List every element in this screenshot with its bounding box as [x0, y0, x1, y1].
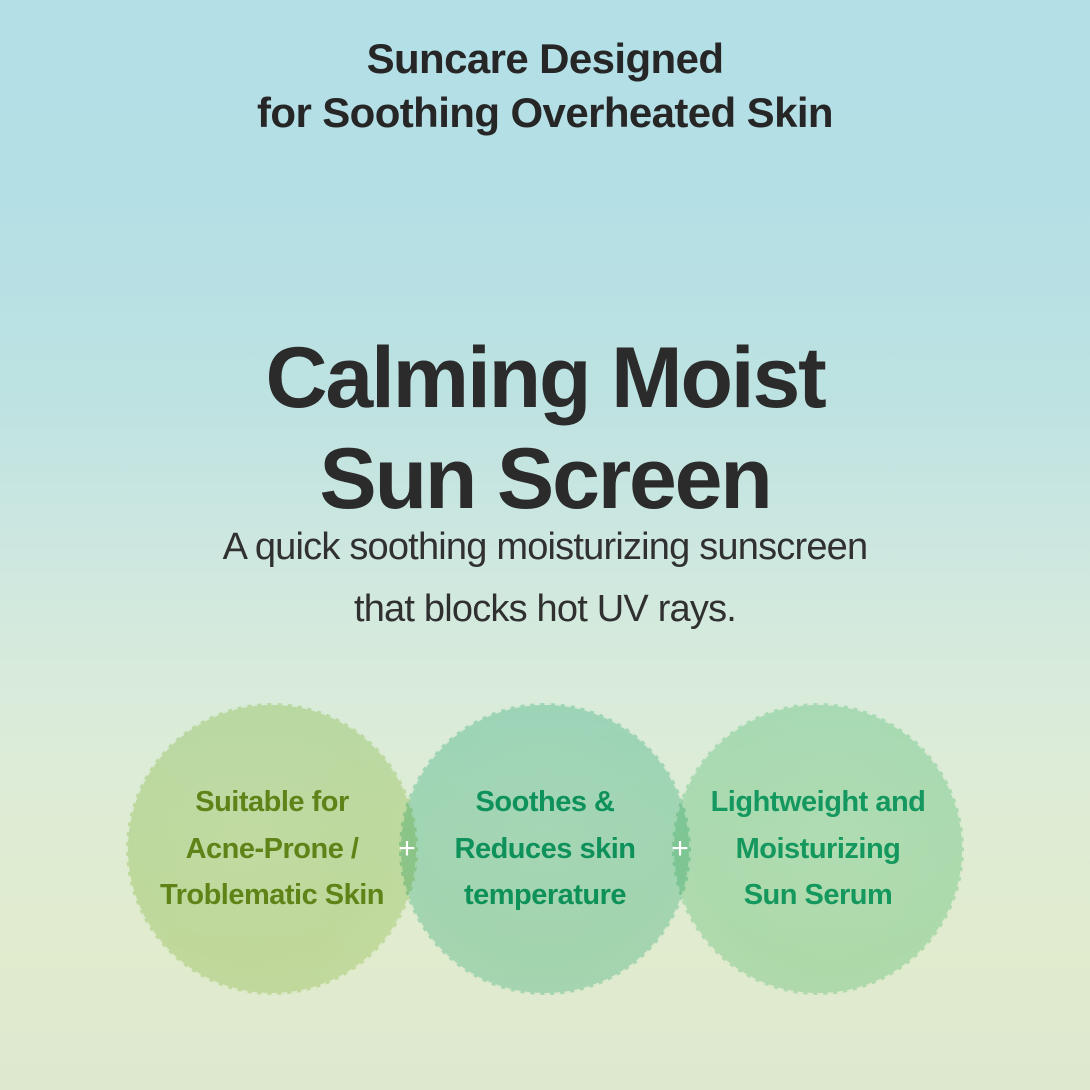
benefit-circle-soothes-temperature: Soothes & Reduces skin temperature: [399, 703, 691, 995]
benefit-1-line-2: Acne-Prone /: [137, 826, 407, 873]
benefit-1-line-3: Troblematic Skin: [137, 872, 407, 919]
product-title-line-2: Sun Screen: [0, 429, 1090, 530]
page-title: Calming Moist Sun Screen: [0, 328, 1090, 531]
benefit-2-line-3: temperature: [410, 872, 680, 919]
benefit-2-line-2: Reduces skin: [410, 826, 680, 873]
benefit-3-line-2: Moisturizing: [683, 826, 953, 873]
product-detail-page: Suncare Designed for Soothing Overheated…: [0, 0, 1090, 1090]
benefit-1-line-1: Suitable for: [137, 779, 407, 826]
subtitle-line-2: that blocks hot UV rays.: [0, 579, 1090, 641]
benefit-2-line-1: Soothes &: [410, 779, 680, 826]
benefit-text-acne-prone: Suitable for Acne-Prone / Troblematic Sk…: [137, 779, 407, 920]
page-eyebrow-heading: Suncare Designed for Soothing Overheated…: [0, 32, 1090, 140]
plus-icon: +: [392, 834, 422, 864]
eyebrow-line-2: for Soothing Overheated Skin: [0, 86, 1090, 140]
benefit-text-soothes-temperature: Soothes & Reduces skin temperature: [410, 779, 680, 920]
benefit-3-line-1: Lightweight and: [683, 779, 953, 826]
product-subtitle: A quick soothing moisturizing sunscreen …: [0, 517, 1090, 640]
plus-icon: +: [665, 834, 695, 864]
subtitle-line-1: A quick soothing moisturizing sunscreen: [0, 517, 1090, 579]
benefits-venn-diagram: Suitable for Acne-Prone / Troblematic Sk…: [0, 703, 1090, 1003]
benefit-circle-acne-prone: Suitable for Acne-Prone / Troblematic Sk…: [126, 703, 418, 995]
eyebrow-line-1: Suncare Designed: [0, 32, 1090, 86]
benefit-text-lightweight-serum: Lightweight and Moisturizing Sun Serum: [683, 779, 953, 920]
benefit-3-line-3: Sun Serum: [683, 872, 953, 919]
benefit-circle-lightweight-serum: Lightweight and Moisturizing Sun Serum: [672, 703, 964, 995]
product-title-line-1: Calming Moist: [0, 328, 1090, 429]
